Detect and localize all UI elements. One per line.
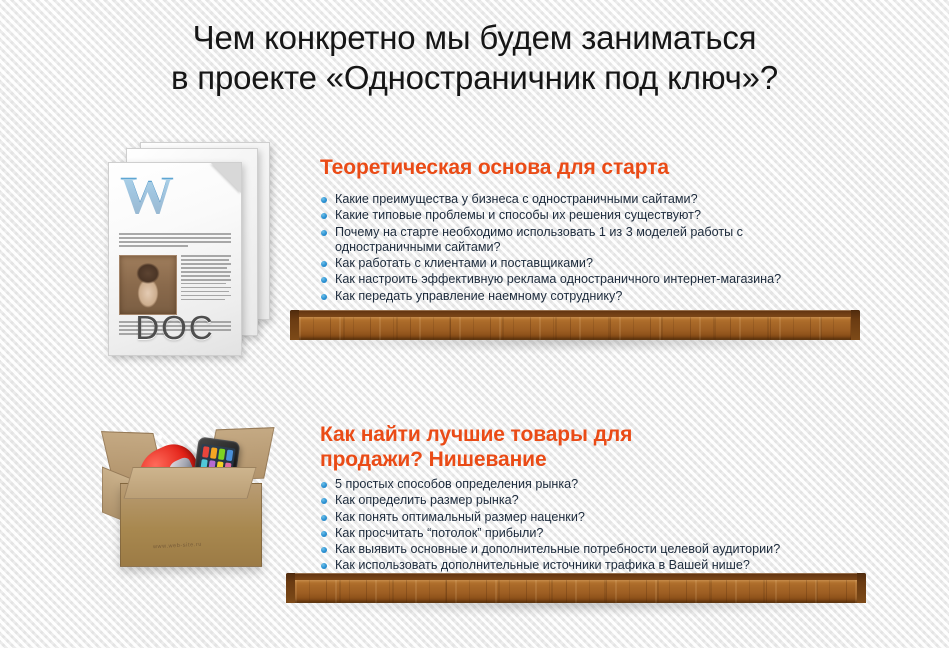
shelf-right-edge [857, 573, 866, 603]
page-title-line-2: в проекте «Одностраничник под ключ»? [0, 58, 949, 98]
bullet-dot-icon [321, 498, 327, 504]
list-item-text: Как работать с клиентами и поставщиками? [335, 256, 593, 270]
wooden-shelf-bottom [286, 573, 866, 615]
bullet-dot-icon [321, 563, 327, 569]
page-title-line-1: Чем конкретно мы будем заниматься [0, 18, 949, 58]
page-fold-corner [211, 163, 241, 193]
list-item-text: Как передать управление наемному сотрудн… [335, 289, 622, 303]
bullet-dot-icon [321, 277, 327, 283]
list-item: Какие преимущества у бизнеса с одностран… [321, 192, 861, 207]
bullet-dot-icon [321, 230, 327, 236]
doc-paragraph-right-column [181, 255, 231, 303]
bullet-dot-icon [321, 261, 327, 267]
list-item-text: Как использовать дополнительные источник… [335, 558, 750, 572]
bullet-dot-icon [321, 213, 327, 219]
shelf-top-surface [286, 573, 866, 580]
bullet-dot-icon [321, 482, 327, 488]
list-item: Как понять оптимальный размер наценки? [321, 510, 861, 525]
list-item: Как передать управление наемному сотрудн… [321, 289, 861, 304]
section-niche-heading: Как найти лучшие товары для продажи? Ниш… [320, 422, 740, 472]
bullet-dot-icon [321, 294, 327, 300]
doc-portrait-photo [119, 255, 177, 315]
list-item: Как настроить эффективную реклама одност… [321, 272, 861, 287]
list-item-text: Почему на старте необходимо использовать… [335, 225, 743, 254]
list-item-text: Какие типовые проблемы и способы их реше… [335, 208, 701, 222]
bullet-dot-icon [321, 515, 327, 521]
section-theory-heading: Теоретическая основа для старта [320, 155, 840, 180]
shelf-front-face [286, 580, 866, 603]
bullet-dot-icon [321, 547, 327, 553]
shelf-right-edge [851, 310, 860, 340]
shelf-left-edge [290, 310, 299, 340]
slide-canvas: Чем конкретно мы будем заниматься в прое… [0, 0, 949, 648]
list-item-text: Какие преимущества у бизнеса с одностран… [335, 192, 698, 206]
shelf-drop-shadow [292, 602, 860, 615]
list-item: 5 простых способов определения рынка? [321, 477, 861, 492]
list-item-text: Как просчитать “потолок” прибыли? [335, 526, 543, 540]
section-niche-bullets: 5 простых способов определения рынка? Ка… [321, 477, 861, 575]
bullet-dot-icon [321, 531, 327, 537]
list-item: Как просчитать “потолок” прибыли? [321, 526, 861, 541]
shelf-top-surface [290, 310, 860, 317]
doc-paragraph-top [119, 233, 231, 249]
box-flap-front-right [123, 467, 256, 499]
list-item: Как определить размер рынка? [321, 493, 861, 508]
list-item: Как выявить основные и дополнительные по… [321, 542, 861, 557]
bullet-dot-icon [321, 197, 327, 203]
shelf-front-face [290, 317, 860, 340]
list-item: Почему на старте необходимо использовать… [321, 225, 861, 256]
list-item-text: Как определить размер рынка? [335, 493, 519, 507]
shelf-left-edge [286, 573, 295, 603]
page-title: Чем конкретно мы будем заниматься в прое… [0, 18, 949, 98]
list-item: Как использовать дополнительные источник… [321, 558, 861, 573]
list-item-text: Как выявить основные и дополнительные по… [335, 542, 780, 556]
open-box-products-icon: www.web-site.ru [98, 425, 298, 575]
word-doc-icon: W [100, 142, 290, 357]
list-item-text: 5 простых способов определения рынка? [335, 477, 578, 491]
wooden-shelf-top [290, 310, 860, 352]
doc-sheet-front: W [108, 162, 242, 356]
list-item-text: Как понять оптимальный размер наценки? [335, 510, 585, 524]
list-item: Какие типовые проблемы и способы их реше… [321, 208, 861, 223]
word-logo-letter: W [120, 168, 174, 222]
section-theory-bullets: Какие преимущества у бизнеса с одностран… [321, 192, 861, 305]
shelf-drop-shadow [296, 339, 854, 352]
doc-type-label: DOC [109, 309, 241, 347]
list-item: Как работать с клиентами и поставщиками? [321, 256, 861, 271]
list-item-text: Как настроить эффективную реклама одност… [335, 272, 781, 286]
